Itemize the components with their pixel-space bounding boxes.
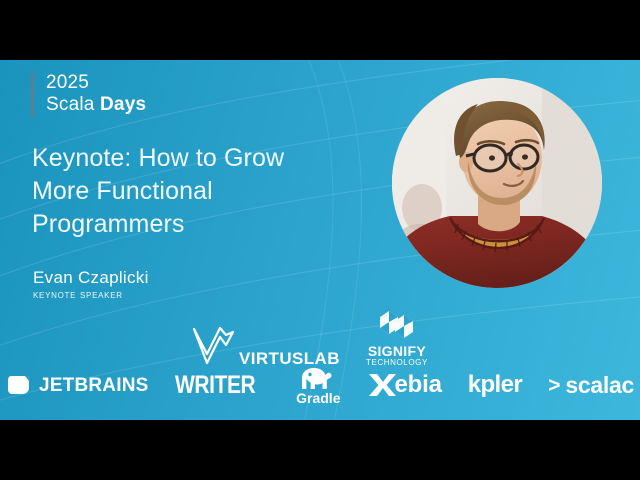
talk-title-line-1: Keynote: How to Grow (32, 142, 362, 175)
conference-slide: 2025 Scala Days Keynote: How to Grow Mor… (0, 60, 640, 420)
sponsor-logo-scalac: > scalac (548, 374, 634, 397)
writer-wordmark: WRITER (175, 373, 255, 398)
xebia-wordmark: ebia (395, 373, 442, 397)
kpler-wordmark: kpler (468, 373, 522, 397)
brand-name-light: Scala (46, 94, 100, 115)
scala-days-logo: 2025 Scala Days (31, 72, 146, 117)
sponsor-logo-xebia: ebia (367, 371, 442, 399)
signify-hexagon-icon (377, 308, 417, 344)
scalac-chevron-icon: > (548, 375, 560, 396)
sponsor-logo-kpler: kpler (468, 373, 522, 397)
talk-title-line-3: Programmers (32, 208, 362, 241)
virtuslab-checkmark-icon (190, 323, 236, 367)
sponsor-row-secondary: JETBRAINS WRITER Gradle ebia (6, 365, 634, 405)
brand-text: 2025 Scala Days (46, 72, 146, 117)
letterbox-bar-top (0, 0, 640, 60)
sponsor-logo-signify: SIGNIFY TECHNOLOGY (366, 308, 428, 367)
speaker-role: Keynote Speaker (33, 289, 149, 301)
sponsor-logo-gradle: Gradle (296, 365, 340, 405)
video-player-frame: 2025 Scala Days Keynote: How to Grow Mor… (0, 0, 640, 480)
talk-title: Keynote: How to Grow More Functional Pro… (32, 142, 362, 241)
speaker-portrait (392, 78, 602, 288)
speaker-name: Evan Czaplicki (33, 268, 149, 288)
signify-wordmark: SIGNIFY (368, 344, 426, 359)
gradle-elephant-icon (298, 365, 338, 391)
sponsor-logo-jetbrains: JETBRAINS (6, 372, 148, 398)
sponsor-row-primary: VIRTUSLAB SIGNIFY TECHNOLOGY (190, 308, 428, 367)
brand-year: 2025 (46, 72, 146, 94)
gradle-wordmark: Gradle (296, 391, 340, 405)
scalac-wordmark: scalac (565, 374, 634, 397)
brand-name-bold: Days (100, 94, 146, 115)
talk-title-line-2: More Functional (32, 175, 362, 208)
sponsor-logo-virtuslab: VIRTUSLAB (190, 323, 340, 367)
sponsor-logo-writer: WRITER (175, 373, 271, 398)
jetbrains-mark-icon (6, 372, 32, 398)
letterbox-bar-bottom (0, 420, 640, 480)
xebia-x-icon (367, 371, 397, 399)
speaker-block: Evan Czaplicki Keynote Speaker (33, 268, 149, 301)
brand-accent-bar (31, 72, 34, 117)
jetbrains-wordmark: JETBRAINS (39, 376, 148, 395)
brand-name: Scala Days (46, 94, 146, 116)
